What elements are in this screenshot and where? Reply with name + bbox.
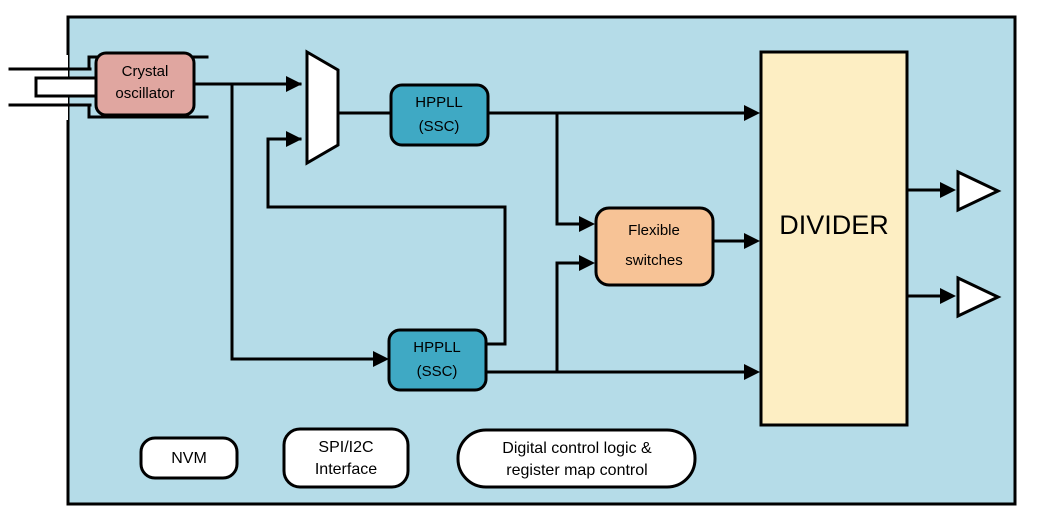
spi-i2c-label-line2: Interface [315,461,377,478]
crystal-oscillator-block[interactable]: Crystal oscillator [96,53,194,115]
divider-label: DIVIDER [779,210,889,240]
digital-control-label-line1: Digital control logic & [502,440,652,457]
multiplexer-icon[interactable] [307,52,338,163]
hppll-bottom-label-line2: (SSC) [417,363,458,380]
hppll-top-label-line2: (SSC) [419,118,460,135]
spi-i2c-interface-block[interactable]: SPI/I2C Interface [284,429,408,487]
digital-control-label-line2: register map control [506,462,647,479]
flexible-switches-block[interactable]: Flexible switches [596,208,713,285]
block-diagram-canvas: Crystal oscillator HPP [0,0,1040,522]
divider-block[interactable]: DIVIDER [761,52,907,425]
hppll-bottom-block[interactable]: HPPLL (SSC) [389,330,486,390]
hppll-top-block[interactable]: HPPLL (SSC) [391,85,488,145]
nvm-block[interactable]: NVM [141,438,237,478]
clock-generator-block-diagram: Crystal oscillator HPP [0,0,1040,522]
digital-control-logic-block[interactable]: Digital control logic & register map con… [458,430,695,487]
crystal-oscillator-label-line1: Crystal [122,63,169,80]
hppll-bottom-label-line1: HPPLL [413,339,461,356]
nvm-label: NVM [171,450,207,467]
flexible-switches-label-line1: Flexible [628,222,680,239]
crystal-oscillator-label-line2: oscillator [115,85,174,102]
spi-i2c-label-line1: SPI/I2C [318,439,373,456]
hppll-top-label-line1: HPPLL [415,94,463,111]
flexible-switches-label-line2: switches [625,252,683,269]
